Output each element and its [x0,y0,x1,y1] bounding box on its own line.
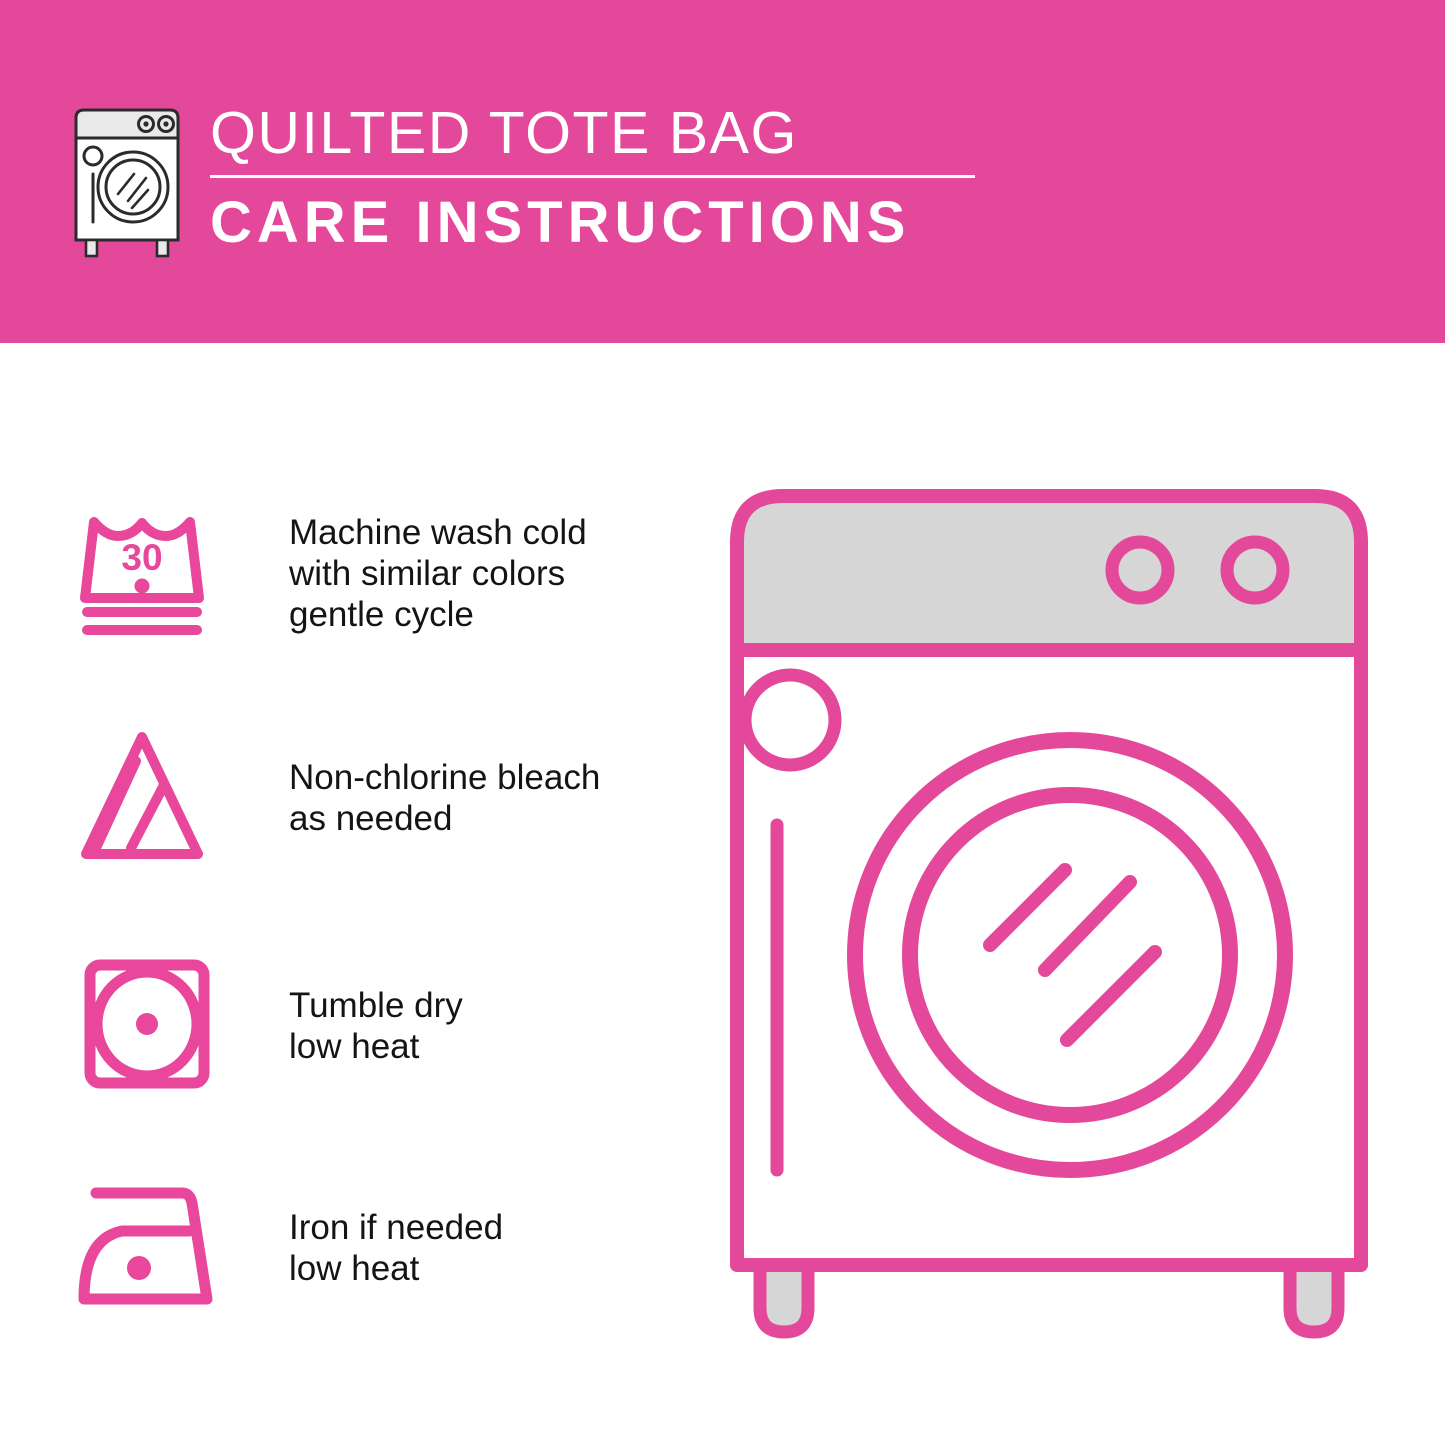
care-row: Non-chlorine bleach as needed [68,723,688,873]
care-row: Iron if needed low heat [68,1173,688,1323]
care-label-line: low heat [289,1248,503,1289]
washing-machine-icon [62,98,192,258]
bleach-triangle-icon [68,723,233,873]
control-knob [1112,542,1168,598]
care-label-line: Iron if needed [289,1207,503,1248]
care-label: Iron if needed low heat [289,1207,503,1289]
care-label: Machine wash cold with similar colors ge… [289,512,587,635]
care-label: Tumble dry low heat [289,985,463,1067]
care-label-line: with similar colors [289,553,587,594]
care-label-line: Machine wash cold [289,512,587,553]
care-row: Tumble dry low heat [68,951,688,1101]
dial-circle [745,675,835,765]
care-label-line: as needed [289,798,600,839]
care-label-line: low heat [289,1026,463,1067]
large-washing-machine-illustration [715,470,1395,1370]
wash-temperature-value: 30 [121,537,162,578]
care-label-line: gentle cycle [289,594,587,635]
drum-inner-ring [910,795,1230,1115]
header-text-block: QUILTED TOTE BAG CARE INSTRUCTIONS [210,100,1000,255]
control-knob [1227,542,1283,598]
page-title: QUILTED TOTE BAG [210,100,1000,166]
care-instructions-page: QUILTED TOTE BAG CARE INSTRUCTIONS 30 [0,0,1445,1445]
care-label: Non-chlorine bleach as needed [289,757,600,839]
page-subtitle: CARE INSTRUCTIONS [210,191,1000,255]
tumble-dry-icon [68,951,233,1101]
wash-tub-30-icon: 30 [68,498,233,648]
title-divider [210,175,975,178]
iron-icon [68,1173,233,1323]
header-banner: QUILTED TOTE BAG CARE INSTRUCTIONS [0,0,1445,343]
care-label-line: Non-chlorine bleach [289,757,600,798]
care-label-line: Tumble dry [289,985,463,1026]
care-row: 30 Machine wash cold with similar colors… [68,498,688,648]
